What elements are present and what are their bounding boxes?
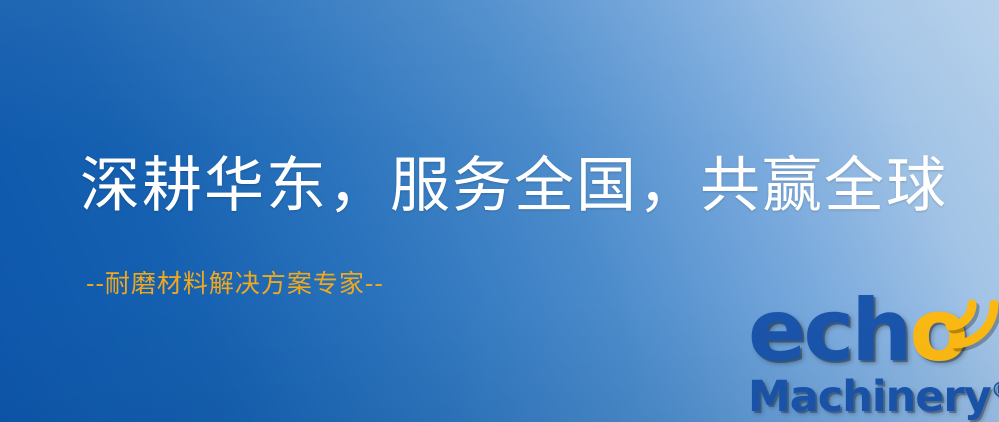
logo-brand-text: echo <box>748 288 966 374</box>
promo-banner: 深耕华东，服务全国，共赢全球 --耐磨材料解决方案专家-- echo Machi… <box>0 0 999 422</box>
echo-machinery-logo: echo Machinery® <box>744 292 999 422</box>
logo-product-line: Machinery® <box>748 366 999 421</box>
logo-trademark-symbol: ® <box>991 378 999 402</box>
banner-subtitle: --耐磨材料解决方案专家-- <box>86 268 384 300</box>
banner-headline: 深耕华东，服务全国，共赢全球 <box>80 151 948 221</box>
wifi-signal-arcs-icon <box>944 294 999 350</box>
logo-product-line-text: Machinery <box>748 372 991 422</box>
